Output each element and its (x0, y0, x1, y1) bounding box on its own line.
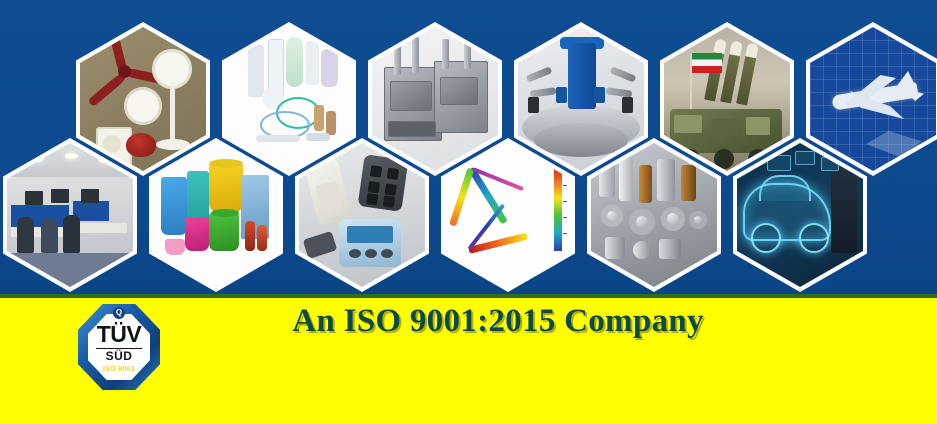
hex-tile-rotary (514, 22, 648, 176)
company-hero-banner: jd Q TÜV SÜD ISO 9001 An ISO 9001:2015 C… (0, 0, 937, 424)
sud-brand-text: SÜD (88, 349, 150, 363)
hex-tile-fea (441, 138, 575, 292)
hex-tile-plastic (149, 138, 283, 292)
hex-tile-auto (733, 138, 867, 292)
hex-tile-office (3, 138, 137, 292)
hex-tile-enclosure (295, 138, 429, 292)
hex-tile-machined (587, 138, 721, 292)
tuv-sud-certification-logo: Q TÜV SÜD ISO 9001 (66, 302, 172, 394)
hex-tile-mould (368, 22, 502, 176)
iso-company-headline: An ISO 9001:2015 Company (238, 298, 758, 344)
hex-collage-area (0, 0, 937, 295)
hex-tile-defence (660, 22, 794, 176)
hex-tile-fans (76, 22, 210, 176)
hex-tile-medical (222, 22, 356, 176)
tuv-brand-text: TÜV (88, 323, 150, 346)
tuv-standard-text: ISO 9001 (88, 366, 150, 373)
quality-q-icon: Q (113, 307, 125, 319)
